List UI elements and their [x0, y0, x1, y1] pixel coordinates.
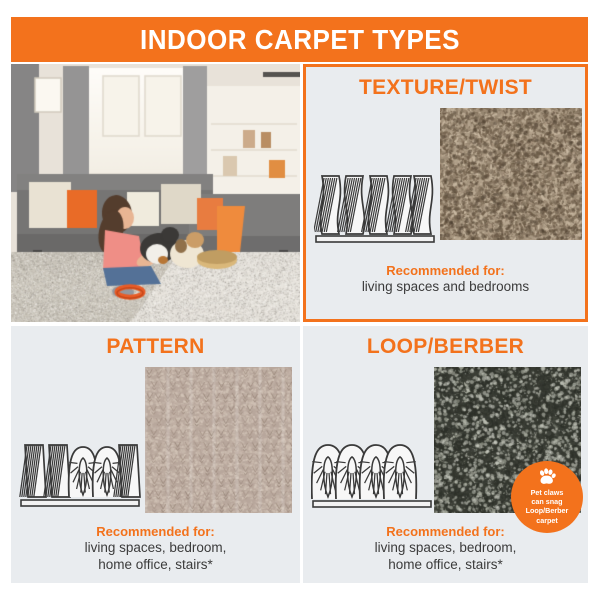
header-bar: INDOOR CARPET TYPES	[11, 17, 588, 62]
pet-badge-text: Pet claws can snag Loop/Berber carpet	[526, 488, 569, 525]
recommendation-texture-twist: Recommended for: living spaces and bedro…	[306, 263, 585, 296]
pet-badge-line-3: carpet	[526, 516, 569, 525]
rec-body-loop-berber-0: living spaces, bedroom,	[303, 540, 588, 557]
rec-body-pattern-1: home office, stairs*	[11, 557, 300, 574]
rec-body-texture-twist-0: living spaces and bedrooms	[306, 279, 585, 296]
panel-loop-berber: LOOP/BERBER Recommended for: living spac…	[303, 326, 588, 583]
panel-title-pattern: PATTERN	[11, 335, 300, 359]
living-room-photo-panel: THE HOME DEPOT	[11, 64, 300, 322]
paw-print-icon	[537, 468, 557, 486]
living-room-photo	[11, 64, 300, 322]
infographic-root: INDOOR CARPET TYPES THE HOME DEPOT TEXTU…	[0, 0, 600, 600]
loop-berber-cross-section	[311, 440, 433, 519]
rec-lead-pattern: Recommended for:	[11, 524, 300, 540]
panel-pattern: PATTERN Recommended for: living spaces, …	[11, 326, 300, 583]
recommendation-pattern: Recommended for: living spaces, bedroom,…	[11, 524, 300, 574]
pet-badge-line-0: Pet claws	[526, 488, 569, 497]
pet-claws-warning-badge: Pet claws can snag Loop/Berber carpet	[511, 461, 583, 533]
texture-twist-carpet-swatch	[440, 108, 582, 240]
page-title: INDOOR CARPET TYPES	[140, 24, 460, 56]
texture-twist-cross-section	[314, 170, 436, 253]
pet-badge-line-1: can snag	[526, 497, 569, 506]
panel-texture-twist: TEXTURE/TWIST Recommended for: living sp…	[303, 64, 588, 322]
pattern-cross-section	[19, 440, 141, 519]
rec-body-pattern-0: living spaces, bedroom,	[11, 540, 300, 557]
pattern-carpet-swatch	[145, 367, 292, 513]
panel-title-loop-berber: LOOP/BERBER	[303, 335, 588, 359]
rec-body-loop-berber-1: home office, stairs*	[303, 557, 588, 574]
pet-badge-line-2: Loop/Berber	[526, 506, 569, 515]
panel-title-texture-twist: TEXTURE/TWIST	[306, 76, 585, 100]
rec-lead-texture-twist: Recommended for:	[306, 263, 585, 279]
